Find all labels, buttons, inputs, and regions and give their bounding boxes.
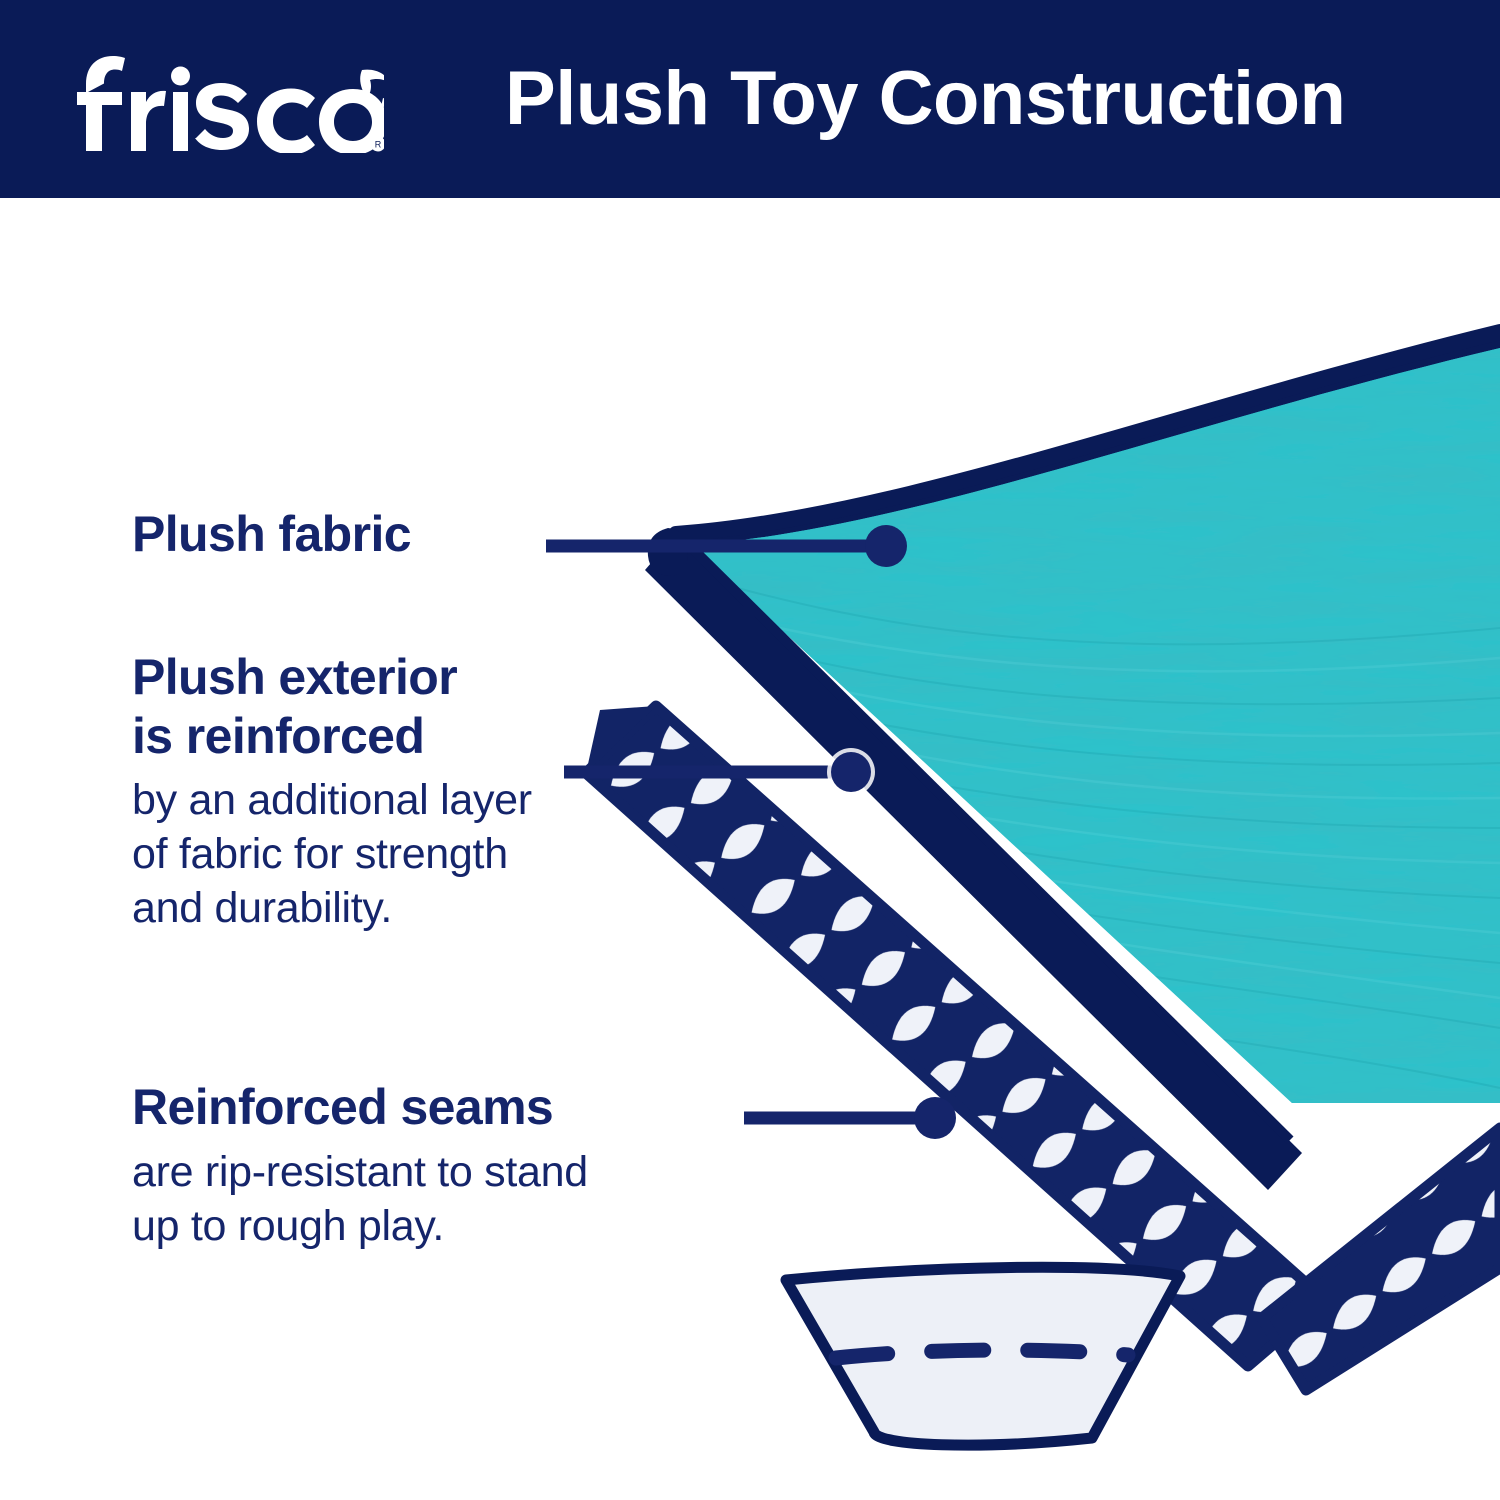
callout-body: are rip-resistant to stand up to rough p… [132, 1145, 792, 1253]
callout-headline: Plush exterior is reinforced [132, 648, 732, 765]
infographic-page: R Plush Toy Construction [0, 0, 1500, 1500]
leader-dot-plush-exterior [831, 752, 871, 792]
leader-dot-plush-fabric [865, 525, 907, 567]
plush-fabric-panel [640, 318, 1500, 1190]
callout-plush-fabric: Plush fabric [132, 505, 602, 564]
callout-reinforced-seams: Reinforced seams are rip-resistant to st… [132, 1078, 792, 1253]
page-title: Plush Toy Construction [505, 44, 1405, 154]
reinforced-seam-flap [786, 1267, 1180, 1445]
callout-headline: Plush fabric [132, 505, 602, 564]
header-band: R Plush Toy Construction [0, 0, 1500, 198]
callout-headline: Reinforced seams [132, 1078, 792, 1137]
callout-plush-exterior-reinforced: Plush exterior is reinforced by an addit… [132, 648, 732, 936]
callout-body: by an additional layer of fabric for str… [132, 773, 732, 936]
stitch-dashed-line [836, 1350, 1128, 1358]
svg-text:R: R [375, 140, 382, 150]
frisco-logo-icon: R [74, 48, 384, 153]
leader-dot-reinforced-seams [914, 1097, 956, 1139]
